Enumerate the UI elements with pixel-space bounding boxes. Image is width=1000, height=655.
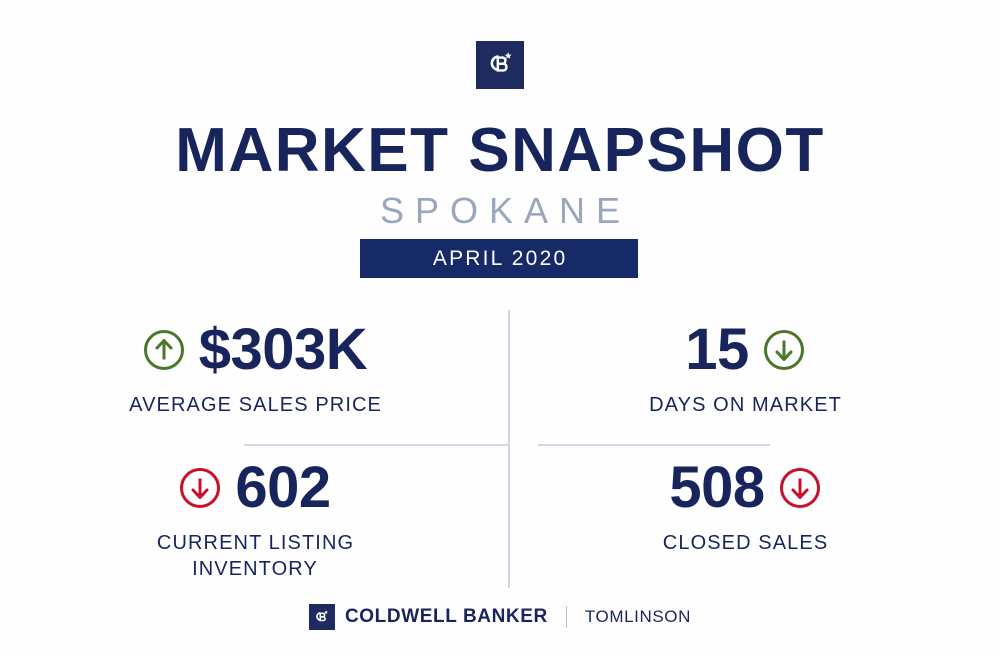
stat-label: CURRENT LISTING INVENTORY bbox=[40, 530, 470, 582]
footer-coldwell-banker-logo-icon bbox=[309, 604, 335, 630]
stat-value: 602 bbox=[235, 459, 330, 517]
footer-brand-name: COLDWELL BANKER bbox=[345, 606, 548, 628]
circle-arrow-down-icon bbox=[779, 467, 821, 509]
circle-arrow-up-icon bbox=[143, 329, 185, 371]
horizontal-divider-right bbox=[538, 444, 770, 446]
stat-value: $303K bbox=[199, 321, 367, 379]
stat-label: AVERAGE SALES PRICE bbox=[40, 392, 470, 418]
stat-closed-sales: 508 CLOSED SALES bbox=[530, 452, 960, 556]
footer-affiliate-name: TOMLINSON bbox=[585, 607, 691, 627]
circle-arrow-down-icon bbox=[763, 329, 805, 371]
horizontal-divider-left bbox=[244, 444, 508, 446]
stat-days-on-market: 15 DAYS ON MARKET bbox=[530, 314, 960, 418]
date-banner-label: APRIL 2020 bbox=[431, 247, 568, 271]
stat-label: DAYS ON MARKET bbox=[530, 392, 960, 418]
stat-value-row: 508 bbox=[530, 452, 960, 524]
stat-value-row: $303K bbox=[40, 314, 470, 386]
stat-current-listing-inventory: 602 CURRENT LISTING INVENTORY bbox=[40, 452, 470, 582]
stat-label: CLOSED SALES bbox=[530, 530, 960, 556]
footer-divider bbox=[566, 606, 567, 628]
stat-value: 15 bbox=[685, 321, 749, 379]
stat-average-sales-price: $303K AVERAGE SALES PRICE bbox=[40, 314, 470, 418]
page-subtitle-market-name: SPOKANE bbox=[0, 190, 1000, 232]
stat-value-row: 602 bbox=[40, 452, 470, 524]
vertical-divider bbox=[508, 310, 510, 588]
date-banner: APRIL 2020 bbox=[360, 239, 638, 278]
page-title: MARKET SNAPSHOT bbox=[0, 116, 1000, 186]
market-snapshot-infographic: MARKET SNAPSHOT SPOKANE APRIL 2020 $303K… bbox=[0, 0, 1000, 655]
circle-arrow-down-icon bbox=[179, 467, 221, 509]
footer-brand-lockup: COLDWELL BANKER TOMLINSON bbox=[0, 604, 1000, 630]
stat-value: 508 bbox=[669, 459, 764, 517]
coldwell-banker-logo-icon bbox=[476, 41, 524, 89]
stat-value-row: 15 bbox=[530, 314, 960, 386]
